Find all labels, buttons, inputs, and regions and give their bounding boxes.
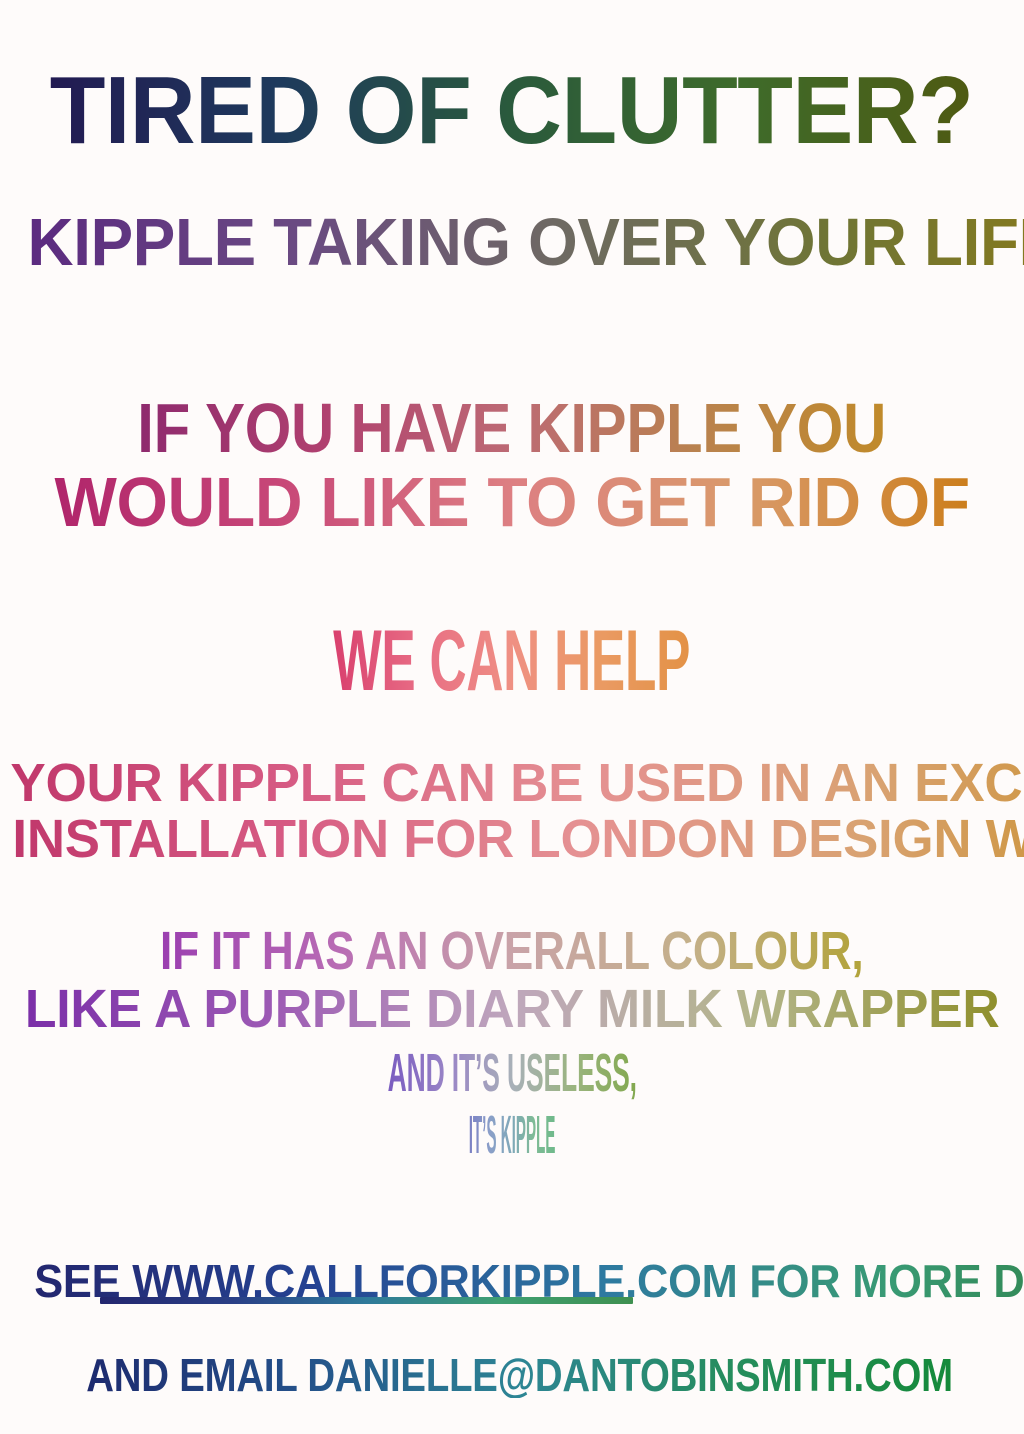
body-line-2: WOULD LIKE TO GET RID OF [54,467,969,537]
definition-line-2: LIKE A PURPLE DIARY MILK WRAPPER [25,982,1000,1036]
definition-line-1: IF IT HAS AN OVERALL COLOUR, [160,924,863,978]
poster-canvas: TIRED OF CLUTTER? KIPPLE TAKING OVER YOU… [0,0,1024,1434]
headline-row: TIRED OF CLUTTER? [0,56,1024,166]
installation-line-2-row: INSTALLATION FOR LONDON DESIGN WEEK [0,808,1024,870]
subhead-row: KIPPLE TAKING OVER YOUR LIFE? [0,204,1024,281]
definition-line-3: AND IT’S USELESS, [387,1046,636,1100]
installation-line-2: INSTALLATION FOR LONDON DESIGN WEEK [12,812,1024,866]
poster-subhead: KIPPLE TAKING OVER YOUR LIFE? [27,209,1024,276]
definition-line-1-row: IF IT HAS AN OVERALL COLOUR, [0,920,1024,982]
contact-see-suffix: FOR MORE DETAILS [738,1255,1024,1307]
definition-line-4: IT’S KIPPLE [469,1108,556,1162]
installation-line-1: YOUR KIPPLE CAN BE USED IN AN EXCITING [10,756,1024,810]
poster-headline: TIRED OF CLUTTER? [50,63,974,159]
body-line-1-row: IF YOU HAVE KIPPLE YOU [0,388,1024,468]
body-line-2-row: WOULD LIKE TO GET RID OF [0,462,1024,542]
call-to-action-text: WE CAN HELP [334,618,691,704]
contact-url-underline [100,1297,633,1304]
body-line-1: IF YOU HAVE KIPPLE YOU [138,393,887,463]
definition-line-4-row: IT’S KIPPLE [0,1104,1024,1166]
contact-email-text[interactable]: AND EMAIL DANIELLE@DANTOBINSMITH.COM [86,1352,953,1398]
definition-line-2-row: LIKE A PURPLE DIARY MILK WRAPPER [0,978,1024,1040]
installation-line-1-row: YOUR KIPPLE CAN BE USED IN AN EXCITING [0,752,1024,814]
contact-email-row[interactable]: AND EMAIL DANIELLE@DANTOBINSMITH.COM [0,1348,1024,1402]
definition-line-3-row: AND IT’S USELESS, [0,1042,1024,1104]
call-to-action-row: WE CAN HELP [0,612,1024,711]
